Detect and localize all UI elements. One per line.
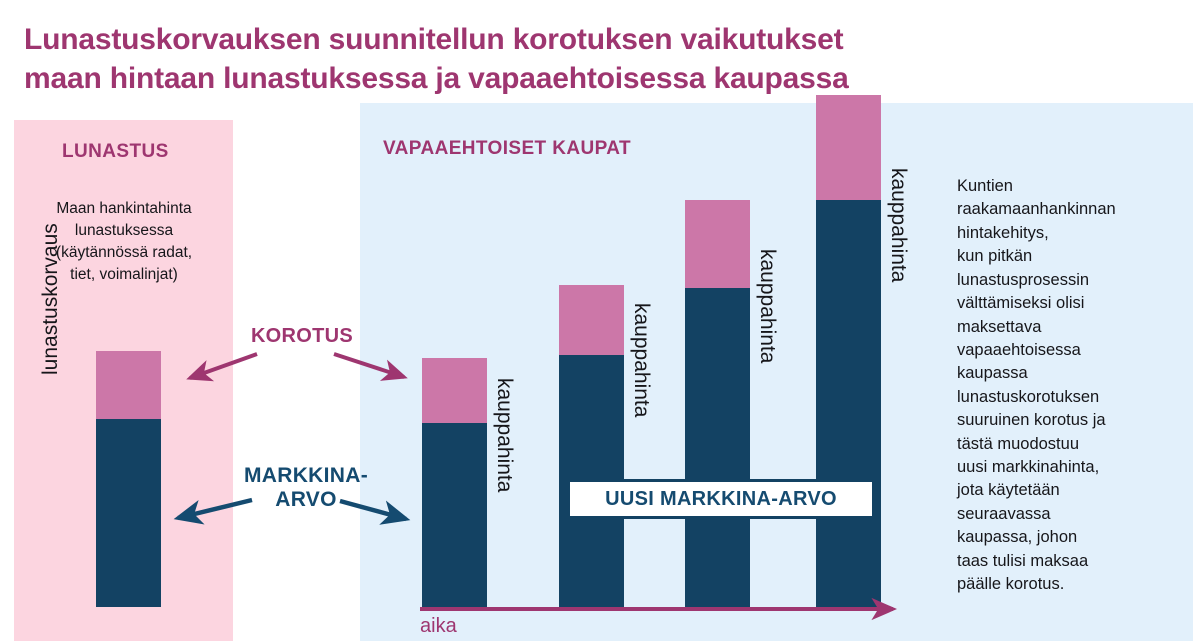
bar-kauppahinta-3 [685,200,750,607]
annotation-markkina-arvo: MARKKINA- ARVO [210,464,402,511]
bar-label-lunastuskorvaus: lunastuskorvaus [39,159,63,375]
bar-segment-markkina-arvo [96,419,161,607]
page-title: Lunastuskorvauksen suunnitellun korotuks… [24,20,1024,98]
side-explanation-text: Kuntien raakamaanhankinnan hintakehitys,… [957,175,1172,597]
lunastus-panel-heading: LUNASTUS [62,141,169,163]
bar-lunastuskorvaus [96,351,161,607]
infographic-canvas: Lunastuskorvauksen suunnitellun korotuks… [0,0,1193,641]
uusi-markkina-arvo-box: UUSI MARKKINA-ARVO [567,479,875,519]
bar-segment-korotus [685,200,750,288]
axis-label-aika: aika [420,615,457,638]
bar-segment-korotus [559,285,624,355]
bar-kauppahinta-2 [559,285,624,607]
bar-segment-korotus [422,358,487,423]
bar-segment-markkina-arvo [422,423,487,607]
bar-label-kauppahinta-1: kauppahinta [492,378,516,492]
bar-label-kauppahinta-3: kauppahinta [755,249,779,363]
bar-label-kauppahinta-4: kauppahinta [886,168,910,282]
uusi-markkina-arvo-label: UUSI MARKKINA-ARVO [605,488,837,511]
bar-segment-markkina-arvo [816,200,881,607]
bar-label-kauppahinta-2: kauppahinta [629,303,653,417]
vapaaehtoiset-kaupat-heading: VAPAAEHTOISET KAUPAT [383,138,631,160]
bar-kauppahinta-1 [422,358,487,607]
bar-segment-korotus [816,95,881,200]
bar-segment-korotus [96,351,161,419]
bar-kauppahinta-4 [816,95,881,607]
annotation-korotus: KOROTUS [228,325,376,347]
bar-segment-markkina-arvo [685,288,750,607]
